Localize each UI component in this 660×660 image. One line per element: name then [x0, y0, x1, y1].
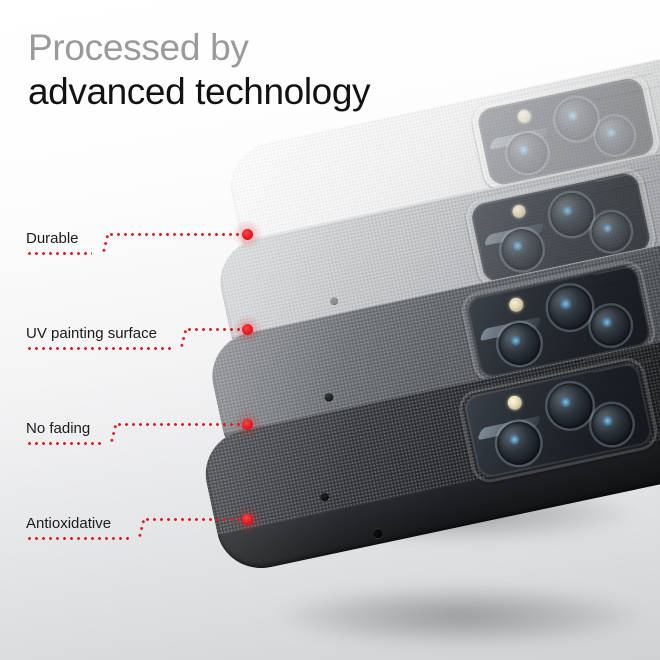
callout-label: UV painting surface: [26, 325, 157, 342]
callout-connector-line: [144, 518, 242, 521]
callout-marker-dot: [242, 324, 253, 335]
callout-uv-painting-surface: UV painting surface: [26, 325, 266, 365]
callout-connector-line: [108, 233, 242, 236]
callout-connector-diagonal: [137, 518, 145, 540]
callout-connector-diagonal: [109, 423, 117, 445]
callout-label: Antioxidative: [26, 515, 111, 532]
callout-durable: Durable: [26, 230, 266, 270]
callout-label: Durable: [26, 230, 79, 247]
callout-connector-line: [116, 423, 242, 426]
callout-marker-dot: [242, 419, 253, 430]
callout-no-fading: No fading: [26, 420, 266, 460]
headline-line-2: advanced technology: [28, 70, 370, 114]
callout-marker-dot: [242, 514, 253, 525]
callout-underline: [26, 252, 92, 255]
product-marketing-image: Processed by advanced technology: [0, 0, 660, 660]
callout-underline: [26, 347, 172, 350]
callout-label: No fading: [26, 420, 90, 437]
callout-connector-diagonal: [101, 233, 109, 255]
headline-block: Processed by advanced technology: [28, 26, 370, 114]
headline-line-1: Processed by: [28, 26, 370, 70]
stack-shadow-4: [280, 586, 640, 646]
callout-antioxidative: Antioxidative: [26, 515, 266, 555]
callout-marker-dot: [242, 229, 253, 240]
callout-connector-diagonal: [179, 328, 187, 350]
callout-underline: [26, 442, 102, 445]
callout-underline: [26, 537, 130, 540]
